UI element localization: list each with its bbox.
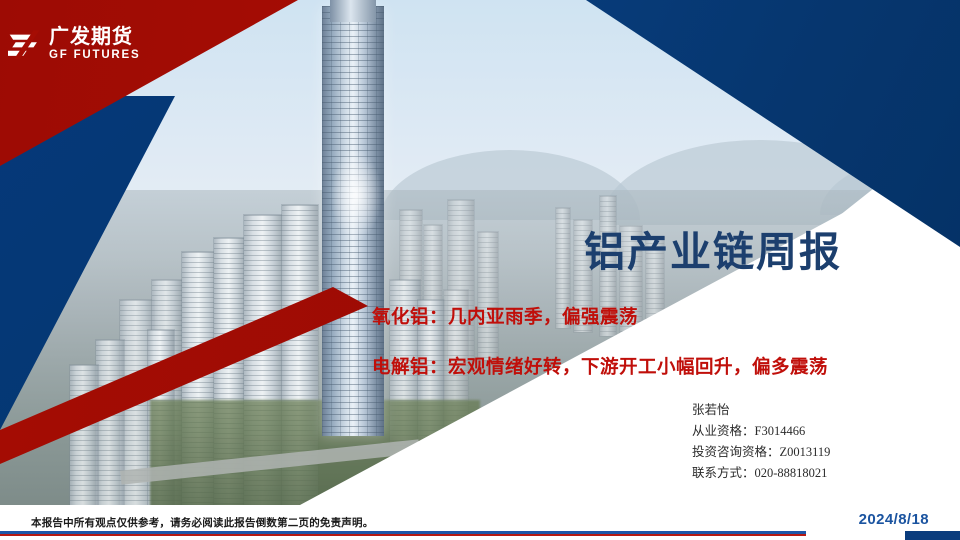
author-contact: 联系方式：020-88818021 [692, 463, 830, 484]
author-consulting-qualification: 投资咨询资格：Z0013119 [692, 442, 830, 463]
subtitle-line-2: 电解铝：宏观情绪好转，下游开工小幅回升，偏多震荡 [372, 353, 828, 379]
logo-name-en: GF FUTURES [49, 50, 140, 62]
presentation-cover-slide: 广发期货 GF FUTURES 铝产业链周报 氧化铝：几内亚雨季，偏强震荡 电解… [0, 0, 960, 540]
author-practice-qualification: 从业资格：F3014466 [692, 421, 830, 442]
footer-navy-block [905, 531, 960, 540]
gf-futures-logo-icon [8, 27, 42, 61]
subtitle-line-1: 氧化铝：几内亚雨季，偏强震荡 [372, 303, 638, 329]
logo-text: 广发期货 GF FUTURES [49, 27, 140, 62]
author-name: 张若怡 [692, 400, 830, 421]
logo-name-cn: 广发期货 [49, 27, 140, 47]
background-building [478, 232, 498, 360]
author-info: 张若怡 从业资格：F3014466 投资咨询资格：Z0013119 联系方式：0… [692, 400, 830, 484]
footer-rule-red [0, 534, 806, 536]
skyscraper-crown [330, 0, 376, 22]
page-title: 铝产业链周报 [584, 218, 842, 278]
report-date: 2024/8/18 [859, 511, 929, 528]
company-logo: 广发期货 GF FUTURES [8, 27, 140, 62]
disclaimer-text: 本报告中所有观点仅供参考，请务必阅读此报告倒数第二页的免责声明。 [31, 515, 373, 530]
